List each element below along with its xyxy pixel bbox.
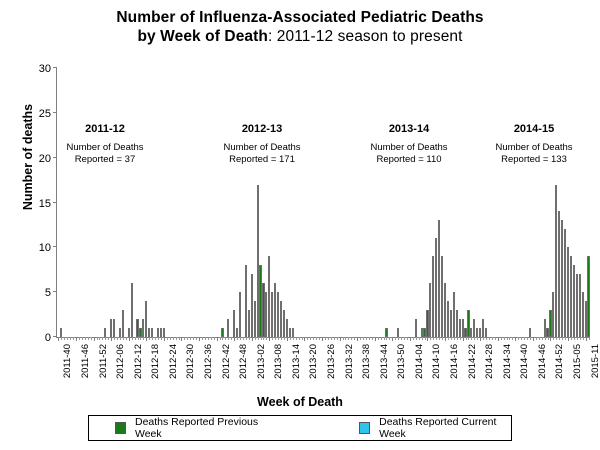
bar-segment-previous-week xyxy=(462,319,464,337)
x-axis-tick-mark xyxy=(302,337,303,340)
x-axis-tick-mark xyxy=(184,337,185,340)
legend-label-current-week: Deaths Reported Current Week xyxy=(379,416,511,440)
bar xyxy=(555,185,557,337)
season-deaths-line-1: Number of Deaths xyxy=(202,142,322,154)
bar-series-container xyxy=(57,68,590,337)
x-axis-title: Week of Death xyxy=(0,395,600,409)
season-annotation: 2012-13Number of DeathsReported = 171 xyxy=(202,123,322,166)
x-axis-tick-label: 2013-14 xyxy=(291,344,302,379)
x-axis-tick-mark xyxy=(430,337,431,340)
x-axis-tick-mark xyxy=(155,337,156,340)
bar-segment-previous-week xyxy=(587,256,589,337)
x-axis-tick-mark xyxy=(433,337,434,340)
bar xyxy=(110,319,112,337)
bar xyxy=(259,265,261,337)
x-axis-tick-mark xyxy=(471,337,472,340)
bar-segment-previous-week xyxy=(60,328,62,337)
x-axis-tick-mark xyxy=(310,337,311,340)
x-axis-tick-mark xyxy=(135,337,136,340)
x-axis-tick-mark xyxy=(545,337,546,340)
x-axis-tick-mark xyxy=(88,337,89,340)
bar-segment-previous-week xyxy=(262,283,264,337)
x-axis-tick-mark xyxy=(386,337,387,340)
bar xyxy=(160,328,162,337)
influenza-pediatric-deaths-chart: Number of Influenza-Associated Pediatric… xyxy=(0,0,600,450)
bar xyxy=(122,310,124,337)
y-axis-tick-label: 30 xyxy=(39,63,57,75)
x-axis-tick-mark xyxy=(211,337,212,340)
x-axis-tick-mark xyxy=(158,337,159,340)
x-axis-tick-mark xyxy=(281,337,282,340)
x-axis-tick-mark xyxy=(146,337,147,341)
season-annotation: 2013-14Number of DeathsReported = 110 xyxy=(349,123,469,166)
bar-segment-previous-week xyxy=(573,265,575,337)
bar xyxy=(544,319,546,337)
x-axis-tick-mark xyxy=(565,337,566,340)
legend-swatch-previous-week-icon xyxy=(115,422,126,434)
x-axis-tick-mark xyxy=(556,337,557,340)
bar-segment-previous-week xyxy=(435,238,437,337)
bar-segment-previous-week xyxy=(450,310,452,337)
x-axis-tick-mark xyxy=(521,337,522,340)
bar-segment-previous-week xyxy=(546,328,548,337)
bar-segment-previous-week xyxy=(280,301,282,337)
bar xyxy=(464,328,466,337)
bar-segment-previous-week xyxy=(248,310,250,337)
x-axis-tick-mark xyxy=(498,337,499,341)
x-axis-tick-mark xyxy=(553,337,554,340)
x-axis-tick-mark xyxy=(246,337,247,340)
x-axis-tick-mark xyxy=(419,337,420,340)
x-axis-tick-mark xyxy=(328,337,329,340)
x-axis-tick-mark xyxy=(228,337,229,340)
x-axis-tick-label: 2011-52 xyxy=(98,344,109,378)
x-axis-tick-mark xyxy=(345,337,346,340)
x-axis-tick-mark xyxy=(173,337,174,340)
bar xyxy=(283,310,285,337)
bar-segment-previous-week xyxy=(385,328,387,337)
x-axis-tick-mark xyxy=(307,337,308,340)
x-axis-tick-label: 2013-20 xyxy=(308,344,319,379)
x-axis-tick-mark xyxy=(451,337,452,340)
legend-label-previous-week: Deaths Reported Previous Week xyxy=(135,416,272,440)
bar xyxy=(397,328,399,337)
x-axis-tick-mark xyxy=(313,337,314,340)
season-name: 2014-15 xyxy=(474,123,594,137)
bar-segment-previous-week xyxy=(485,328,487,337)
x-axis-tick-mark xyxy=(401,337,402,340)
bar-segment-previous-week xyxy=(438,220,440,337)
legend-item-previous-week: Deaths Reported Previous Week xyxy=(115,416,272,440)
bar xyxy=(450,310,452,337)
x-axis-tick-mark xyxy=(354,337,355,340)
season-deaths-line-1: Number of Deaths xyxy=(45,142,165,154)
x-axis-tick-mark xyxy=(290,337,291,340)
x-axis-tick-mark xyxy=(149,337,150,340)
bar xyxy=(435,238,437,337)
x-axis-tick-mark xyxy=(214,337,215,340)
x-axis-tick-mark xyxy=(196,337,197,340)
x-axis-tick-label: 2014-52 xyxy=(554,344,565,379)
x-axis-tick-mark xyxy=(343,337,344,340)
x-axis-tick-label: 2014-22 xyxy=(467,344,478,379)
bar-segment-previous-week xyxy=(119,328,121,337)
bar-segment-previous-week xyxy=(251,274,253,337)
bar xyxy=(447,301,449,337)
bar-segment-previous-week xyxy=(585,301,587,337)
x-axis-tick-mark xyxy=(466,337,467,340)
x-axis-tick-mark xyxy=(161,337,162,340)
bar xyxy=(289,328,291,337)
x-axis-tick-mark xyxy=(348,337,349,340)
x-axis-tick-mark xyxy=(293,337,294,340)
bar xyxy=(567,247,569,337)
x-axis-tick-mark xyxy=(208,337,209,340)
x-axis-tick-mark xyxy=(357,337,358,341)
x-axis-tick-mark xyxy=(527,337,528,340)
x-axis-tick-mark xyxy=(99,337,100,340)
bar-segment-previous-week xyxy=(423,328,425,337)
bar-segment-previous-week xyxy=(561,220,563,337)
x-axis-tick-mark xyxy=(202,337,203,340)
bar-segment-previous-week xyxy=(482,319,484,337)
chart-legend: Deaths Reported Previous Week Deaths Rep… xyxy=(88,415,512,441)
x-axis-tick-label: 2014-46 xyxy=(537,344,548,379)
x-axis-tick-mark xyxy=(384,337,385,340)
x-axis-tick-label: 2015-11 xyxy=(590,344,600,378)
bar-segment-previous-week xyxy=(277,292,279,337)
x-axis-tick-label: 2013-32 xyxy=(344,344,355,379)
bar-segment-previous-week xyxy=(289,328,291,337)
x-axis-tick-mark xyxy=(536,337,537,340)
bar-segment-previous-week xyxy=(558,211,560,337)
bar-segment-previous-week xyxy=(254,301,256,337)
x-axis-tick-label: 2013-38 xyxy=(361,344,372,379)
bar-segment-previous-week xyxy=(544,319,546,337)
x-axis-tick-mark xyxy=(492,337,493,340)
x-axis-tick-mark xyxy=(463,337,464,341)
bar xyxy=(119,328,121,337)
bar xyxy=(585,301,587,337)
bar xyxy=(245,265,247,337)
x-axis-tick-mark xyxy=(468,337,469,340)
bar-segment-previous-week xyxy=(397,328,399,337)
bar xyxy=(248,310,250,337)
bar-segment-previous-week xyxy=(265,292,267,337)
bar-segment-previous-week xyxy=(429,283,431,337)
x-axis-tick-mark xyxy=(351,337,352,340)
x-axis-tick-mark xyxy=(392,337,393,341)
bar-segment-previous-week xyxy=(104,328,106,337)
x-axis-tick-mark xyxy=(255,337,256,340)
x-axis-tick-mark xyxy=(586,337,587,341)
x-axis-tick-mark xyxy=(460,337,461,340)
bar xyxy=(467,310,469,337)
bar xyxy=(529,328,531,337)
bar xyxy=(582,292,584,337)
x-axis-tick-label: 2014-34 xyxy=(502,344,513,379)
x-axis-tick-mark xyxy=(114,337,115,340)
x-axis-tick-mark xyxy=(495,337,496,340)
x-axis-tick-mark xyxy=(278,337,279,340)
x-axis-tick-label: 2014-04 xyxy=(414,344,425,379)
x-axis-tick-mark xyxy=(266,337,267,340)
bar xyxy=(423,328,425,337)
bar xyxy=(476,328,478,337)
x-axis-tick-mark xyxy=(480,337,481,341)
bar xyxy=(221,328,223,337)
x-axis-tick-mark xyxy=(483,337,484,340)
x-axis-tick-mark xyxy=(533,337,534,341)
season-deaths-line-1: Number of Deaths xyxy=(349,142,469,154)
bar-segment-previous-week xyxy=(564,229,566,337)
x-axis-tick-mark xyxy=(222,337,223,340)
bar xyxy=(254,301,256,337)
bar-segment-previous-week xyxy=(131,283,133,337)
bar xyxy=(426,310,428,337)
bar-segment-previous-week xyxy=(576,274,578,337)
bar-segment-previous-week xyxy=(283,310,285,337)
x-axis-tick-mark xyxy=(126,337,127,340)
chart-title-line-2: by Week of Death: 2011-12 season to pres… xyxy=(0,27,600,46)
bar-segment-previous-week xyxy=(447,301,449,337)
x-axis-tick-mark xyxy=(231,337,232,340)
x-axis-tick-mark xyxy=(477,337,478,340)
bar-segment-previous-week xyxy=(148,328,150,337)
x-axis-tick-mark xyxy=(199,337,200,341)
x-axis-tick-label: 2012-12 xyxy=(133,344,144,379)
x-axis-tick-mark xyxy=(398,337,399,340)
bar xyxy=(549,310,551,337)
bar-segment-previous-week xyxy=(221,328,223,337)
bar xyxy=(441,256,443,337)
x-axis-tick-mark xyxy=(486,337,487,340)
x-axis-tick-mark xyxy=(369,337,370,340)
bar xyxy=(265,292,267,337)
bar xyxy=(131,283,133,337)
x-axis-tick-mark xyxy=(167,337,168,340)
bar-segment-previous-week xyxy=(476,328,478,337)
x-axis-tick-mark xyxy=(515,337,516,341)
x-axis-tick-label: 2013-44 xyxy=(379,344,390,379)
x-axis-tick-mark xyxy=(319,337,320,340)
season-deaths-line-2: Reported = 133 xyxy=(474,154,594,166)
bar-segment-previous-week xyxy=(549,310,551,337)
x-axis-tick-mark xyxy=(404,337,405,340)
bar-segment-previous-week xyxy=(459,319,461,337)
x-axis-tick-label: 2014-16 xyxy=(449,344,460,379)
bar-segment-previous-week xyxy=(271,292,273,337)
bar-segment-previous-week xyxy=(145,301,147,337)
x-axis-tick-mark xyxy=(190,337,191,340)
bar-segment-previous-week xyxy=(257,185,259,337)
bar xyxy=(251,274,253,337)
x-axis-tick-mark xyxy=(58,337,59,341)
x-axis-tick-label: 2012-36 xyxy=(203,344,214,379)
x-axis-tick-mark xyxy=(518,337,519,340)
bar-segment-previous-week xyxy=(479,328,481,337)
x-axis-tick-label: 2012-06 xyxy=(115,344,126,379)
x-axis-tick-mark xyxy=(258,337,259,340)
x-axis-tick-mark xyxy=(70,337,71,340)
bar xyxy=(145,301,147,337)
y-axis-tick-label: 0 xyxy=(45,332,57,344)
bar-segment-previous-week xyxy=(529,328,531,337)
x-axis-tick-mark xyxy=(76,337,77,341)
x-axis-tick-mark xyxy=(304,337,305,341)
x-axis-tick-label: 2014-40 xyxy=(519,344,530,379)
bar xyxy=(139,328,141,337)
bar xyxy=(60,328,62,337)
x-axis-tick-mark xyxy=(378,337,379,340)
bar-segment-previous-week xyxy=(122,310,124,337)
x-axis-tick-mark xyxy=(111,337,112,341)
x-axis-tick-mark xyxy=(97,337,98,340)
x-axis-tick-mark xyxy=(240,337,241,340)
x-axis-tick-mark xyxy=(562,337,563,340)
y-axis-tick-label: 25 xyxy=(39,108,57,120)
bar-segment-previous-week xyxy=(470,328,472,337)
bar xyxy=(239,292,241,337)
x-axis-tick-mark xyxy=(108,337,109,340)
x-axis-tick-mark xyxy=(152,337,153,340)
bar-segment-previous-week xyxy=(128,328,130,337)
x-axis-tick-mark xyxy=(217,337,218,341)
bar-segment-previous-week xyxy=(415,319,417,337)
x-axis-tick-mark xyxy=(442,337,443,340)
bar xyxy=(292,328,294,337)
bar xyxy=(385,328,387,337)
x-axis-tick-mark xyxy=(436,337,437,340)
x-axis-tick-mark xyxy=(340,337,341,341)
bar-segment-previous-week xyxy=(456,310,458,337)
x-axis-tick-label: 2015-05 xyxy=(572,344,583,379)
x-axis-tick-mark xyxy=(181,337,182,341)
bar xyxy=(564,229,566,337)
plot-area: 051015202530 2011-402011-462011-522012-0… xyxy=(56,68,590,338)
chart-title: Number of Influenza-Associated Pediatric… xyxy=(0,8,600,47)
x-axis-tick-mark xyxy=(574,337,575,340)
bar xyxy=(561,220,563,337)
x-axis-tick-mark xyxy=(140,337,141,340)
x-axis-tick-mark xyxy=(413,337,414,340)
bar-segment-previous-week xyxy=(136,319,138,337)
bar xyxy=(444,283,446,337)
x-axis-tick-mark xyxy=(225,337,226,340)
x-axis-tick-mark xyxy=(337,337,338,340)
chart-title-line-2-rest: : 2011-12 season to present xyxy=(268,28,463,45)
x-axis-tick-label: 2014-10 xyxy=(431,344,442,379)
bar-segment-previous-week xyxy=(467,310,469,337)
season-deaths-line-2: Reported = 37 xyxy=(45,154,165,166)
x-axis-tick-mark xyxy=(79,337,80,340)
bar xyxy=(558,211,560,337)
x-axis-tick-mark xyxy=(524,337,525,340)
bar-segment-previous-week xyxy=(245,265,247,337)
x-axis-tick-mark xyxy=(454,337,455,340)
y-axis-tick-label: 15 xyxy=(39,198,57,210)
bar-segment-previous-week xyxy=(274,283,276,337)
bar-segment-previous-week xyxy=(567,256,569,337)
bar-segment-previous-week xyxy=(441,256,443,337)
bar xyxy=(151,328,153,337)
x-axis-tick-mark xyxy=(568,337,569,341)
bar xyxy=(456,310,458,337)
bar xyxy=(479,328,481,337)
x-axis-tick-mark xyxy=(287,337,288,341)
x-axis-tick-mark xyxy=(583,337,584,340)
bar-segment-previous-week xyxy=(113,319,115,337)
bar-segment-previous-week xyxy=(453,292,455,337)
x-axis-tick-label: 2013-08 xyxy=(273,344,284,379)
x-axis-tick-mark xyxy=(67,337,68,340)
bar xyxy=(271,292,273,337)
x-axis-tick-mark xyxy=(577,337,578,340)
x-axis-tick-mark xyxy=(164,337,165,341)
x-axis-tick-mark xyxy=(82,337,83,340)
bar xyxy=(113,319,115,337)
x-axis-tick-mark xyxy=(325,337,326,340)
bar xyxy=(421,328,423,337)
bar-segment-previous-week xyxy=(582,292,584,337)
bar xyxy=(163,328,165,337)
chart-title-line-1: Number of Influenza-Associated Pediatric… xyxy=(0,8,600,27)
x-axis-tick-label: 2014-28 xyxy=(484,344,495,379)
bar xyxy=(236,328,238,337)
x-axis-tick-mark xyxy=(299,337,300,340)
x-axis-tick-mark xyxy=(193,337,194,340)
x-axis-tick-mark xyxy=(504,337,505,340)
bar xyxy=(453,292,455,337)
bar xyxy=(552,292,554,337)
x-axis-tick-mark xyxy=(61,337,62,340)
bar xyxy=(470,328,472,337)
x-axis-tick-label: 2012-48 xyxy=(238,344,249,379)
x-axis-tick-mark xyxy=(275,337,276,340)
x-axis-tick-mark xyxy=(363,337,364,340)
x-axis-tick-mark xyxy=(410,337,411,341)
x-axis-tick-mark xyxy=(539,337,540,340)
bar xyxy=(286,319,288,337)
x-axis-tick-mark xyxy=(91,337,92,340)
season-deaths-line-2: Reported = 110 xyxy=(349,154,469,166)
season-name: 2011-12 xyxy=(45,123,165,137)
x-axis-tick-label: 2013-26 xyxy=(326,344,337,379)
x-axis-tick-mark xyxy=(138,337,139,340)
bar-segment-current-week xyxy=(579,274,581,283)
bar xyxy=(415,319,417,337)
bar-segment-previous-week xyxy=(292,328,294,337)
x-axis-tick-mark xyxy=(85,337,86,340)
bar-segment-previous-week xyxy=(570,256,572,337)
x-axis-tick-mark xyxy=(457,337,458,340)
bar xyxy=(268,256,270,337)
x-axis-tick-label: 2011-46 xyxy=(80,344,91,378)
x-axis-tick-label: 2012-30 xyxy=(185,344,196,379)
x-axis-tick-mark xyxy=(129,337,130,341)
x-axis-tick-label: 2012-42 xyxy=(221,344,232,379)
bar xyxy=(274,283,276,337)
bar xyxy=(104,328,106,337)
x-axis-tick-mark xyxy=(372,337,373,340)
season-annotation: 2011-12Number of DeathsReported = 37 xyxy=(45,123,165,166)
bar-segment-previous-week xyxy=(157,328,159,337)
bar-segment-previous-week xyxy=(555,185,557,337)
x-axis-tick-mark xyxy=(179,337,180,340)
bar xyxy=(227,319,229,337)
bar xyxy=(142,319,144,337)
x-axis-tick-mark xyxy=(170,337,171,340)
